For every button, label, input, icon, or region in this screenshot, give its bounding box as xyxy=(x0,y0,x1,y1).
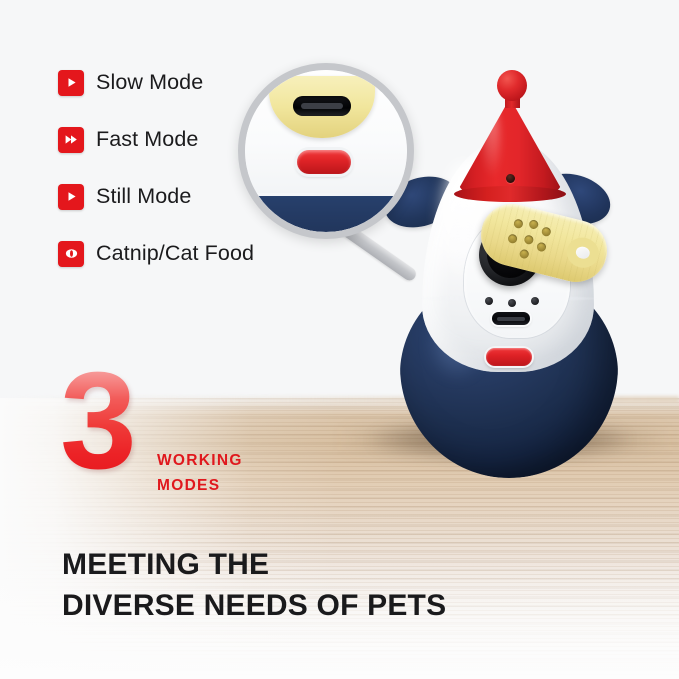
feature-label: Fast Mode xyxy=(96,127,198,152)
cat-toy-product xyxy=(380,62,650,442)
product-marketing-image: Slow Mode Fast Mode Still Mode xyxy=(0,0,679,679)
speaker-dot-2 xyxy=(508,299,516,307)
usb-c-port xyxy=(492,312,530,325)
stat-number: 3 xyxy=(60,352,135,490)
headline-text: MEETING THE DIVERSE NEEDS OF PETS xyxy=(62,544,446,626)
fast-forward-icon xyxy=(58,127,84,153)
speaker-dot-3 xyxy=(531,297,539,305)
play-icon xyxy=(58,184,84,210)
speaker-dot-1 xyxy=(485,297,493,305)
zoomed-red-button xyxy=(297,150,351,174)
hat-base-rim xyxy=(454,186,566,202)
feature-item-slow-mode: Slow Mode xyxy=(58,70,254,95)
stat-caption-line1: WORKING xyxy=(157,448,243,473)
zoomed-usb-c-port xyxy=(293,96,351,116)
feature-label: Slow Mode xyxy=(96,70,203,95)
magnifier-content xyxy=(245,70,407,232)
magnifier-callout xyxy=(238,63,414,239)
stat-caption-line2: MODES xyxy=(157,473,243,498)
feature-item-fast-mode: Fast Mode xyxy=(58,127,254,152)
feature-item-still-mode: Still Mode xyxy=(58,184,254,209)
stat-caption: WORKING MODES xyxy=(157,448,243,498)
zoomed-navy-dome xyxy=(245,196,407,232)
red-power-button xyxy=(486,348,532,366)
hat-sensor-hole xyxy=(506,174,515,183)
play-icon xyxy=(58,70,84,96)
feature-list: Slow Mode Fast Mode Still Mode xyxy=(58,70,254,298)
feature-label: Still Mode xyxy=(96,184,191,209)
feature-label: Catnip/Cat Food xyxy=(96,241,254,266)
feature-item-catnip: Catnip/Cat Food xyxy=(58,241,254,266)
hat-ball-finial xyxy=(497,70,527,101)
capsule-icon xyxy=(58,241,84,267)
